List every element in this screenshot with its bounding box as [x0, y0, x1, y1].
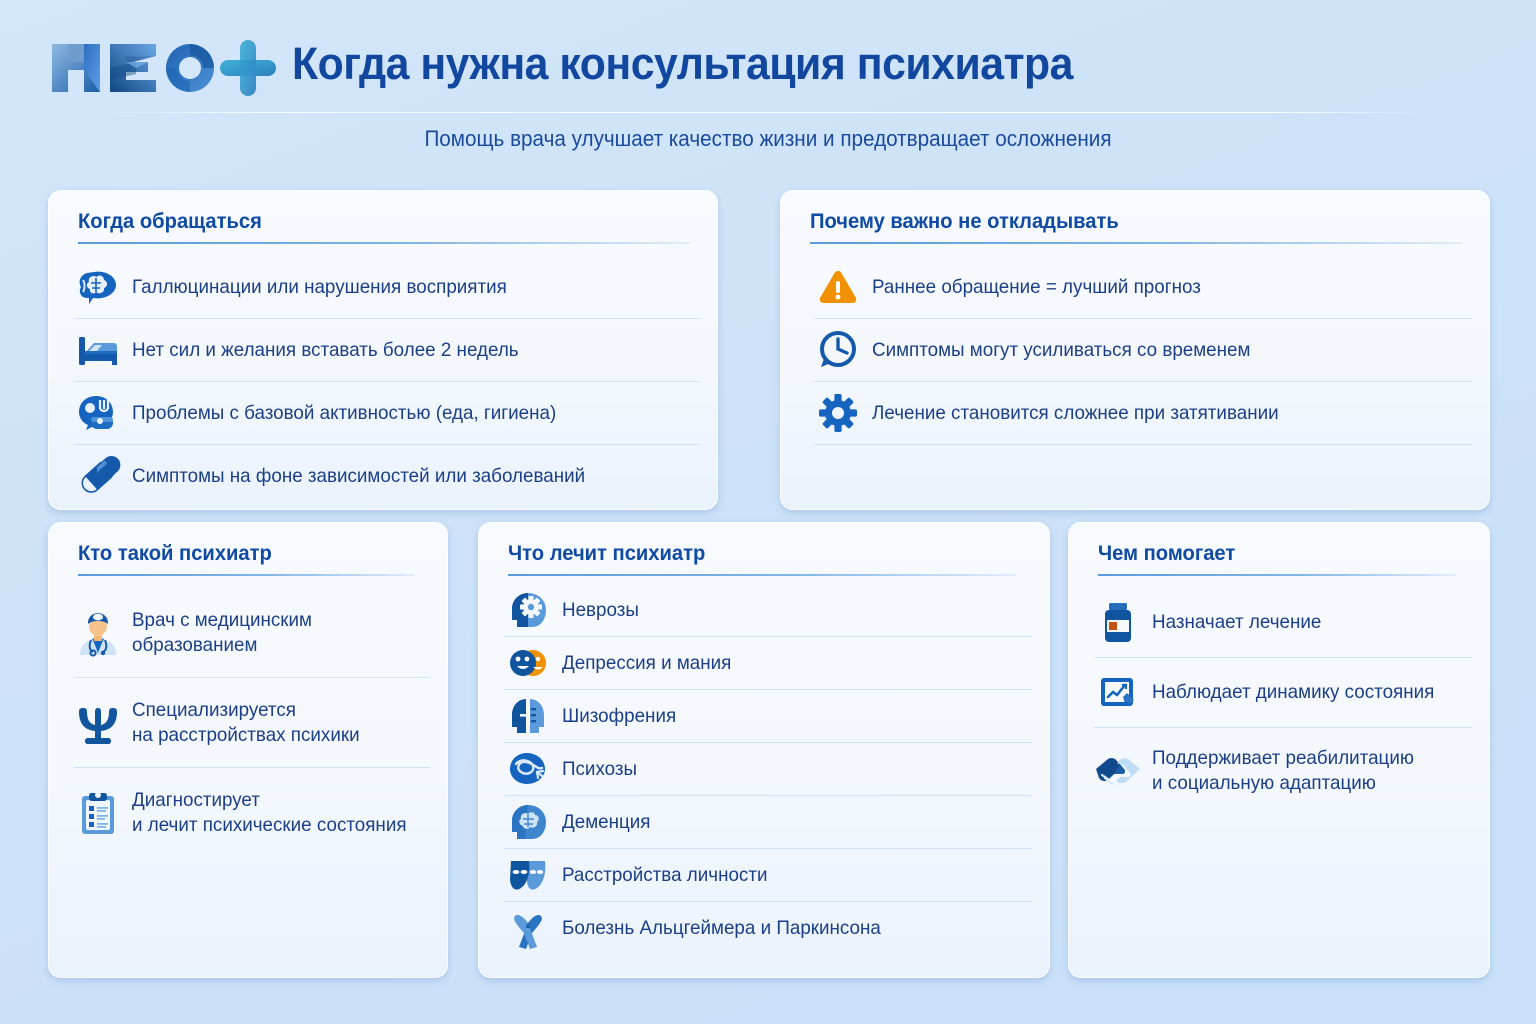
list-item[interactable]: Наблюдает динамику состояния [1094, 658, 1472, 728]
doctor-avatar-icon [74, 609, 122, 657]
list-item-label: Галлюцинации или нарушения восприятия [132, 275, 507, 300]
neo-plus-logo [48, 36, 278, 98]
warning-triangle-icon [814, 263, 862, 311]
label-line-1: Назначает лечение [1152, 611, 1321, 633]
label-line-2: на расстройствах психики [132, 723, 360, 748]
head-brain-icon [504, 798, 552, 846]
card-why-not-delay: Почему важно не откладывать Раннее обращ… [780, 190, 1490, 510]
card-heading: Кто такой психиатр [78, 542, 272, 566]
card-heading-divider [508, 574, 1016, 576]
list-item[interactable]: Назначает лечение [1094, 588, 1472, 658]
card-heading: Что лечит психиатр [508, 542, 705, 566]
list-item-label: Болезнь Альцгеймера и Паркинсона [562, 916, 881, 941]
header-divider [96, 112, 1436, 113]
list-item-label: Проблемы с базовой активностью (еда, гиг… [132, 401, 556, 426]
handshake-icon [1094, 747, 1142, 795]
pill-capsule-icon [74, 453, 122, 501]
bed-icon [74, 326, 122, 374]
list-item[interactable]: Галлюцинации или нарушения восприятия [74, 256, 700, 319]
chart-monitor-icon [1094, 669, 1142, 717]
list-item-label: Специализируется на расстройствах психик… [132, 698, 360, 748]
page-subtitle: Помощь врача улучшает качество жизни и п… [46, 126, 1490, 152]
page-header: Когда нужна консультация психиатра Помощ… [0, 0, 1536, 172]
list-item-label: Расстройства личности [562, 863, 767, 888]
label-line-2: образованием [132, 633, 312, 658]
list-item[interactable]: Раннее обращение = лучший прогноз [814, 256, 1472, 319]
card-item-list: Врач с медицинским образованием Специали… [74, 588, 430, 858]
tangled-mind-icon [504, 745, 552, 793]
list-item-label: Симптомы на фоне зависимостей или заболе… [132, 464, 585, 489]
list-item[interactable]: Диагностирует и лечит психические состоя… [74, 768, 430, 858]
list-item[interactable]: Проблемы с базовой активностью (еда, гиг… [74, 382, 700, 445]
card-item-list: Неврозы Депрессия и мания [504, 584, 1032, 955]
psi-symbol-icon [74, 699, 122, 747]
card-item-list: Галлюцинации или нарушения восприятия Не… [74, 256, 700, 508]
card-heading-divider [1098, 574, 1456, 576]
list-item[interactable]: Симптомы на фоне зависимостей или заболе… [74, 445, 700, 508]
label-line-1: Поддерживает реабилитацию [1152, 747, 1414, 769]
label-line-1: Врач с медицинским [132, 609, 312, 631]
medicine-bottle-icon [1094, 599, 1142, 647]
list-item[interactable]: Нет сил и желания вставать более 2 недел… [74, 319, 700, 382]
card-who-is-psychiatrist: Кто такой психиатр В [48, 522, 448, 978]
label-line-2: и лечит психические состояния [132, 813, 407, 838]
label-line-1: Наблюдает динамику состояния [1152, 681, 1434, 703]
list-item-label: Симптомы могут усиливаться со временем [872, 338, 1250, 363]
list-item-label: Психозы [562, 757, 637, 782]
card-what-psychiatrist-treats: Что лечит психиатр [478, 522, 1050, 978]
card-heading: Когда обращаться [78, 210, 262, 234]
card-heading: Почему важно не откладывать [810, 210, 1119, 234]
list-item[interactable]: Деменция [504, 796, 1032, 849]
list-item-label: Наблюдает динамику состояния [1152, 680, 1434, 705]
list-item-label: Поддерживает реабилитацию и социальную а… [1152, 746, 1414, 796]
list-item-label: Деменция [562, 810, 650, 835]
list-item[interactable]: Врач с медицинским образованием [74, 588, 430, 678]
list-item-label: Раннее обращение = лучший прогноз [872, 275, 1201, 300]
list-item-label: Нет сил и желания вставать более 2 недел… [132, 338, 519, 363]
card-when-to-visit: Когда обращаться Галлюцинации или наруше… [48, 190, 718, 510]
card-how-it-helps: Чем помогает Назначает лечение [1068, 522, 1490, 978]
card-heading: Чем помогает [1098, 542, 1235, 566]
brain-icon [74, 263, 122, 311]
theatre-masks-icon [504, 851, 552, 899]
list-item-label: Неврозы [562, 598, 639, 623]
split-head-icon [504, 692, 552, 740]
label-line-1: Диагностирует [132, 789, 260, 811]
gear-icon [814, 389, 862, 437]
list-item-label: Диагностирует и лечит психические состоя… [132, 788, 407, 838]
list-item[interactable]: Лечение становится сложнее при затятиван… [814, 382, 1472, 445]
list-item[interactable]: Расстройства личности [504, 849, 1032, 902]
list-item[interactable]: Болезнь Альцгеймера и Паркинсона [504, 902, 1032, 955]
clipboard-icon [74, 789, 122, 837]
card-item-list: Назначает лечение Наблюдает динамику сос… [1094, 588, 1472, 813]
card-heading-divider [78, 574, 414, 576]
list-item-label: Назначает лечение [1152, 610, 1321, 635]
clock-icon [814, 326, 862, 374]
list-item[interactable]: Симптомы могут усиливаться со временем [814, 319, 1472, 382]
card-heading-divider [78, 242, 690, 244]
label-line-2: и социальную адаптацию [1152, 771, 1414, 796]
card-heading-divider [810, 242, 1462, 244]
list-item-label: Шизофрения [562, 704, 676, 729]
two-faces-icon [504, 639, 552, 687]
meal-hygiene-icon [74, 389, 122, 437]
label-line-1: Специализируется [132, 699, 296, 721]
head-gear-icon [504, 586, 552, 634]
list-item[interactable]: Шизофрения [504, 690, 1032, 743]
list-item[interactable]: Психозы [504, 743, 1032, 796]
list-item[interactable]: Поддерживает реабилитацию и социальную а… [1094, 728, 1472, 813]
list-item-label: Врач с медицинским образованием [132, 608, 312, 658]
card-item-list: Раннее обращение = лучший прогноз Симпто… [814, 256, 1472, 445]
list-item[interactable]: Депрессия и мания [504, 637, 1032, 690]
list-item[interactable]: Специализируется на расстройствах психик… [74, 678, 430, 768]
list-item-label: Лечение становится сложнее при затятиван… [872, 401, 1279, 426]
awareness-ribbon-icon [504, 905, 552, 953]
list-item-label: Депрессия и мания [562, 651, 731, 676]
page-title: Когда нужна консультация психиатра [292, 38, 1073, 90]
list-item[interactable]: Неврозы [504, 584, 1032, 637]
